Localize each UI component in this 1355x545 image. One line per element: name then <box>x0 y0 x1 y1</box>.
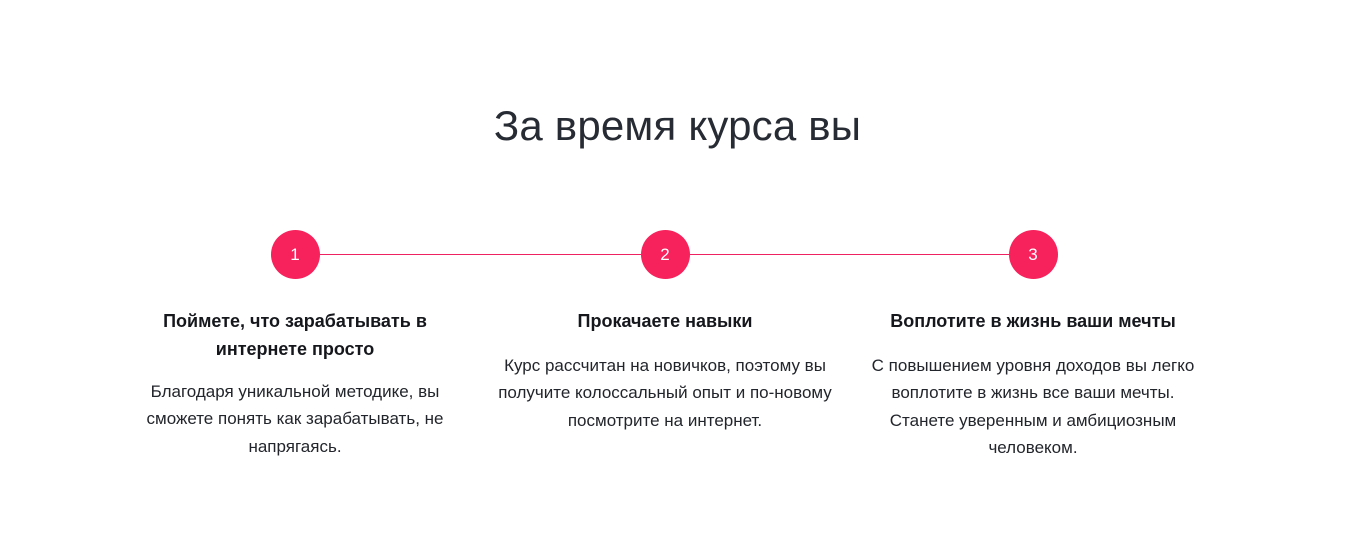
connector-line-2-3 <box>665 254 1033 255</box>
step-body-1: Благодаря уникальной методике, вы сможет… <box>123 378 467 461</box>
step-body-2: Курс рассчитан на новичков, поэтому вы п… <box>493 352 837 435</box>
step-heading-1: Поймете, что зарабатывать в интернете пр… <box>123 308 467 364</box>
course-benefits-section: За время курса вы 1 2 3 Поймете, что зар… <box>0 0 1355 545</box>
step-column-1: Поймете, что зарабатывать в интернете пр… <box>123 308 467 460</box>
step-marker-1: 1 <box>271 230 320 279</box>
connector-line-1-2 <box>295 254 665 255</box>
step-marker-2: 2 <box>641 230 690 279</box>
step-column-3: Воплотите в жизнь ваши мечты С повышение… <box>861 308 1205 462</box>
step-marker-3: 3 <box>1009 230 1058 279</box>
step-body-3: С повышением уровня доходов вы легко воп… <box>861 352 1205 462</box>
step-heading-2: Прокачаете навыки <box>493 308 837 336</box>
step-heading-3: Воплотите в жизнь ваши мечты <box>861 308 1205 336</box>
step-column-2: Прокачаете навыки Курс рассчитан на нови… <box>493 308 837 434</box>
steps-timeline: 1 2 3 <box>0 0 1355 545</box>
